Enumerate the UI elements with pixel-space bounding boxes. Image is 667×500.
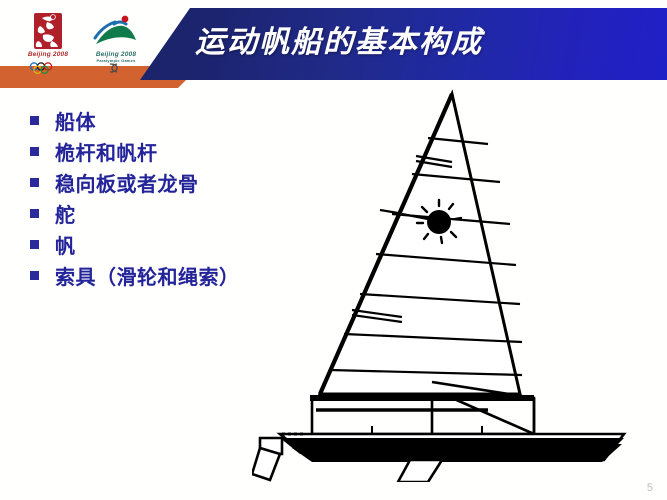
sailboat-illustration xyxy=(252,82,662,482)
square-bullet-icon xyxy=(30,240,39,249)
square-bullet-icon xyxy=(30,116,39,125)
laser-dinghy-line-drawing xyxy=(252,82,662,482)
list-item-label: 舵 xyxy=(55,199,76,228)
slide-canvas: 运动帆船的基本构成 Beijing 2008 xyxy=(0,0,667,500)
list-item-label: 桅杆和帆杆 xyxy=(55,137,158,166)
beijing-2008-olympic-emblem: Beijing 2008 xyxy=(14,12,82,74)
square-bullet-icon xyxy=(30,178,39,187)
list-item-label: 稳向板或者龙骨 xyxy=(55,168,199,197)
list-item-label: 索具（滑轮和绳索） xyxy=(55,261,240,290)
square-bullet-icon xyxy=(30,209,39,218)
sail-outline xyxy=(320,94,520,394)
page-title: 运动帆船的基本构成 xyxy=(195,17,625,61)
olympic-rings-icon xyxy=(28,62,68,74)
beijing-2008-paralympic-emblem: Beijing 2008 Paralympic Games xyxy=(82,12,150,74)
daggerboard xyxy=(398,460,442,482)
paralympic-agitos-icon xyxy=(106,62,126,74)
page-number: 5 xyxy=(647,482,653,494)
olympic-emblem-caption: Beijing 2008 xyxy=(14,51,82,58)
paralympic-emblem-caption: Beijing 2008 xyxy=(82,51,150,58)
list-item-label: 船体 xyxy=(55,106,96,135)
slide-header: 运动帆船的基本构成 Beijing 2008 xyxy=(0,0,667,88)
square-bullet-icon xyxy=(30,147,39,156)
square-bullet-icon xyxy=(30,271,39,280)
list-item-label: 帆 xyxy=(55,230,76,259)
rudder xyxy=(252,438,282,480)
